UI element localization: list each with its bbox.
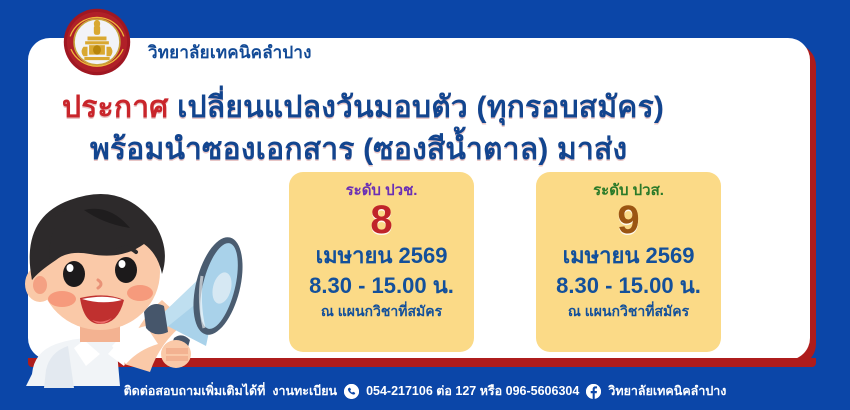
month-year-pwch: เมษายน 2569 <box>289 242 474 270</box>
footer-department: งานทะเบียน <box>272 381 337 401</box>
info-card-pws: ระดับ ปวส. 9 เมษายน 2569 8.30 - 15.00 น.… <box>536 172 721 352</box>
title-keyword-announcement: ประกาศ <box>62 91 169 124</box>
level-label-pwch: ระดับ ปวช. <box>289 182 474 199</box>
college-name-heading: วิทยาลัยเทคนิคลำปาง <box>148 39 312 66</box>
announcement-banner: วิทยาลัยเทคนิคลำปาง ประกาศ เปลี่ยนแปลงวั… <box>0 0 850 410</box>
title-line-2: พร้อมนำซองเอกสาร (ซองสีน้ำตาล) มาส่ง <box>90 126 627 173</box>
footer-contact-label: ติดต่อสอบถามเพิ่มเติมได้ที่ <box>124 381 266 401</box>
college-seal-logo <box>57 8 137 76</box>
place-pwch: ณ แผนกวิชาที่สมัคร <box>289 303 474 320</box>
footer-contact-bar: ติดต่อสอบถามเพิ่มเติมได้ที่ งานทะเบียน 0… <box>0 372 850 410</box>
facebook-icon[interactable] <box>586 384 601 399</box>
place-pws: ณ แผนกวิชาที่สมัคร <box>536 303 721 320</box>
phone-icon <box>344 384 359 399</box>
level-label-pws: ระดับ ปวส. <box>536 182 721 199</box>
info-card-pwch: ระดับ ปวช. 8 เมษายน 2569 8.30 - 15.00 น.… <box>289 172 474 352</box>
title-line-1-main: เปลี่ยนแปลงวันมอบตัว (ทุกรอบสมัคร) <box>177 91 664 124</box>
footer-phone-numbers[interactable]: 054-217106 ต่อ 127 หรือ 096-5606304 <box>366 381 579 401</box>
day-number-pws: 9 <box>536 200 721 240</box>
time-range-pws: 8.30 - 15.00 น. <box>536 272 721 301</box>
time-range-pwch: 8.30 - 15.00 น. <box>289 272 474 301</box>
footer-facebook-page[interactable]: วิทยาลัยเทคนิคลำปาง <box>608 381 726 401</box>
title-line-1: ประกาศ เปลี่ยนแปลงวันมอบตัว (ทุกรอบสมัคร… <box>62 84 664 131</box>
day-number-pwch: 8 <box>289 200 474 240</box>
month-year-pws: เมษายน 2569 <box>536 242 721 270</box>
